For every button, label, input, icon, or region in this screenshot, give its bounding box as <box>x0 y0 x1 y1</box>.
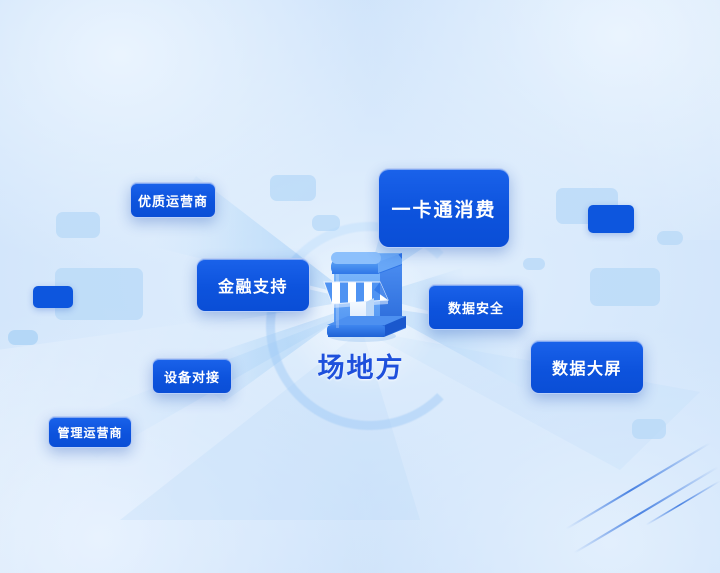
node-label-anquan[interactable]: 数据安全 <box>428 284 524 330</box>
node-label-jinrong[interactable]: 金融支持 <box>196 258 310 312</box>
center-node[interactable]: 场地方 <box>296 236 426 376</box>
node-label-jinrong-text: 金融支持 <box>218 273 288 297</box>
decor-rect-right-small-2 <box>523 258 545 270</box>
node-label-dapin-text: 数据大屏 <box>552 355 622 379</box>
decor-rect-bottom-right <box>632 419 666 439</box>
decor-rect-right-large <box>556 188 618 224</box>
node-label-guanli-text: 管理运营商 <box>57 424 122 441</box>
decor-rect-center-top-1 <box>270 175 316 201</box>
node-label-anquan-text: 数据安全 <box>448 298 504 317</box>
decor-rect-right-small-1 <box>657 231 683 245</box>
center-node-title: 场地方 <box>274 346 448 385</box>
decor-streak-lines <box>560 433 720 573</box>
decor-rect-right-large-2 <box>590 268 660 306</box>
decor-rect-right-solid <box>588 205 634 233</box>
node-label-youzhi[interactable]: 优质运营商 <box>130 182 216 218</box>
node-label-guanli[interactable]: 管理运营商 <box>48 416 132 448</box>
decor-rect-left-small-1 <box>56 212 100 238</box>
decor-rect-left-small-2 <box>8 330 38 345</box>
node-label-yikatong[interactable]: 一卡通消费 <box>378 168 510 248</box>
infographic-canvas: 场地方 一卡通消费 金融支持 数据大屏 数据安全 优质运营商 设备对接 管理运营… <box>0 0 720 573</box>
decor-rect-left-solid <box>33 286 73 308</box>
decor-rect-left-large <box>55 268 143 320</box>
node-label-shebei[interactable]: 设备对接 <box>152 358 232 394</box>
node-label-yikatong-text: 一卡通消费 <box>391 195 496 222</box>
node-label-youzhi-text: 优质运营商 <box>138 191 208 210</box>
node-label-shebei-text: 设备对接 <box>164 367 220 386</box>
node-label-dapin[interactable]: 数据大屏 <box>530 340 644 394</box>
shop-storefront-icon <box>310 238 412 342</box>
